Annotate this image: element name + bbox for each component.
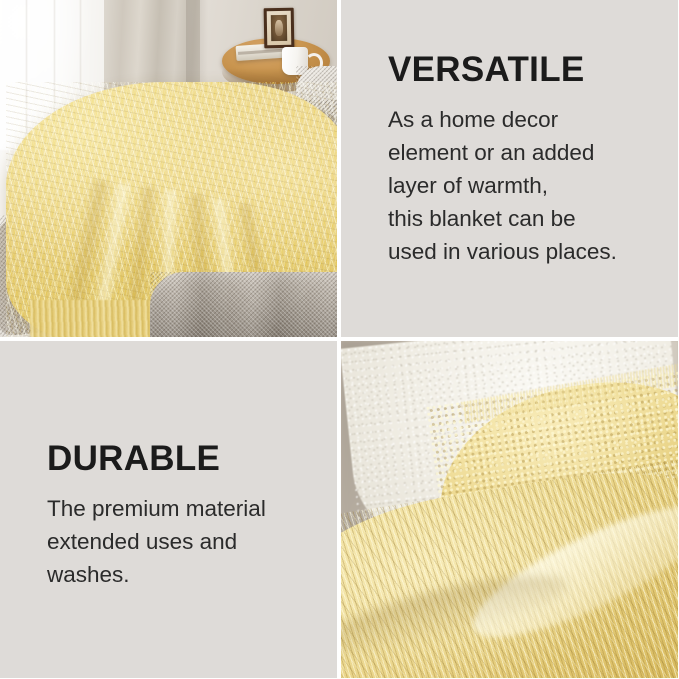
body-line: layer of warmth,: [388, 169, 664, 202]
versatile-heading: VERSATILE: [388, 52, 664, 89]
product-feature-infographic: VERSATILE As a home decor element or an …: [0, 0, 679, 679]
panel-versatile: VERSATILE As a home decor element or an …: [341, 0, 678, 337]
body-line: used in various places.: [388, 235, 664, 268]
body-line: element or an added: [388, 136, 664, 169]
photo-blanket-closeup: [341, 341, 678, 678]
body-line: As a home decor: [388, 103, 664, 136]
panel-durable: DURABLE The premium material extended us…: [0, 341, 337, 678]
durable-body: The premium material extended uses and w…: [47, 492, 323, 591]
closeup-scene-canvas: [341, 341, 678, 678]
versatile-copy-block: VERSATILE As a home decor element or an …: [388, 52, 664, 268]
framed-photo: [271, 15, 287, 41]
bolster-waffle-texture: [150, 272, 337, 337]
durable-heading: DURABLE: [47, 441, 323, 478]
versatile-body: As a home decor element or an added laye…: [388, 103, 664, 268]
frame-mat: [267, 11, 292, 45]
body-line: The premium material: [47, 492, 323, 525]
rolled-bolster-pillows: [150, 272, 337, 337]
body-line: washes.: [47, 558, 323, 591]
bedroom-scene-canvas: [0, 0, 337, 337]
picture-frame: [264, 8, 295, 49]
photo-bedroom-scene: [0, 0, 337, 337]
body-line: this blanket can be: [388, 202, 664, 235]
body-line: extended uses and: [47, 525, 323, 558]
durable-copy-block: DURABLE The premium material extended us…: [47, 441, 323, 591]
